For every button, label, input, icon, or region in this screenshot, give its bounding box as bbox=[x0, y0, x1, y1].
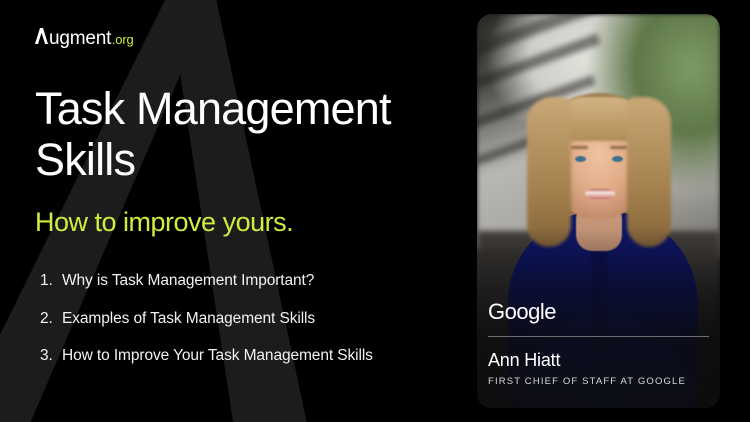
brand-logo[interactable]: ugment .org bbox=[35, 28, 134, 48]
portrait-mouth bbox=[585, 189, 615, 199]
portrait-hair-right bbox=[627, 97, 671, 247]
speaker-caption: Google Ann Hiatt FIRST CHIEF OF STAFF AT… bbox=[488, 301, 712, 387]
speaker-card: Google Ann Hiatt FIRST CHIEF OF STAFF AT… bbox=[477, 14, 720, 408]
portrait-hair-left bbox=[527, 97, 571, 247]
portrait-eye-right bbox=[612, 156, 623, 162]
agenda-item-label: Why is Task Management Important? bbox=[62, 273, 314, 289]
portrait-brow-right bbox=[610, 146, 627, 149]
logo-tld: .org bbox=[112, 33, 134, 46]
agenda-item: 2. Examples of Task Management Skills bbox=[40, 311, 373, 327]
agenda-list: 1. Why is Task Management Important? 2. … bbox=[40, 273, 373, 386]
logo-wordmark: ugment bbox=[49, 29, 111, 48]
agenda-item: 1. Why is Task Management Important? bbox=[40, 273, 373, 289]
agenda-item-label: How to Improve Your Task Management Skil… bbox=[62, 348, 373, 364]
agenda-item-number: 3. bbox=[40, 348, 62, 364]
slide-subtitle: How to improve yours. bbox=[35, 207, 293, 238]
portrait-eye-left bbox=[575, 156, 586, 162]
portrait-brow-left bbox=[571, 146, 588, 149]
agenda-item-number: 2. bbox=[40, 311, 62, 327]
agenda-item: 3. How to Improve Your Task Management S… bbox=[40, 348, 373, 364]
caption-divider bbox=[488, 336, 709, 337]
slide-title: Task Management Skills bbox=[35, 83, 455, 186]
company-wordmark: Google bbox=[488, 301, 712, 323]
speaker-role: FIRST CHIEF OF STAFF AT GOOGLE bbox=[488, 377, 712, 387]
presentation-slide: ugment .org Task Management Skills How t… bbox=[0, 0, 750, 422]
lambda-a-mark-icon bbox=[35, 28, 48, 44]
agenda-item-label: Examples of Task Management Skills bbox=[62, 311, 315, 327]
speaker-name: Ann Hiatt bbox=[488, 351, 712, 369]
agenda-item-number: 1. bbox=[40, 273, 62, 289]
